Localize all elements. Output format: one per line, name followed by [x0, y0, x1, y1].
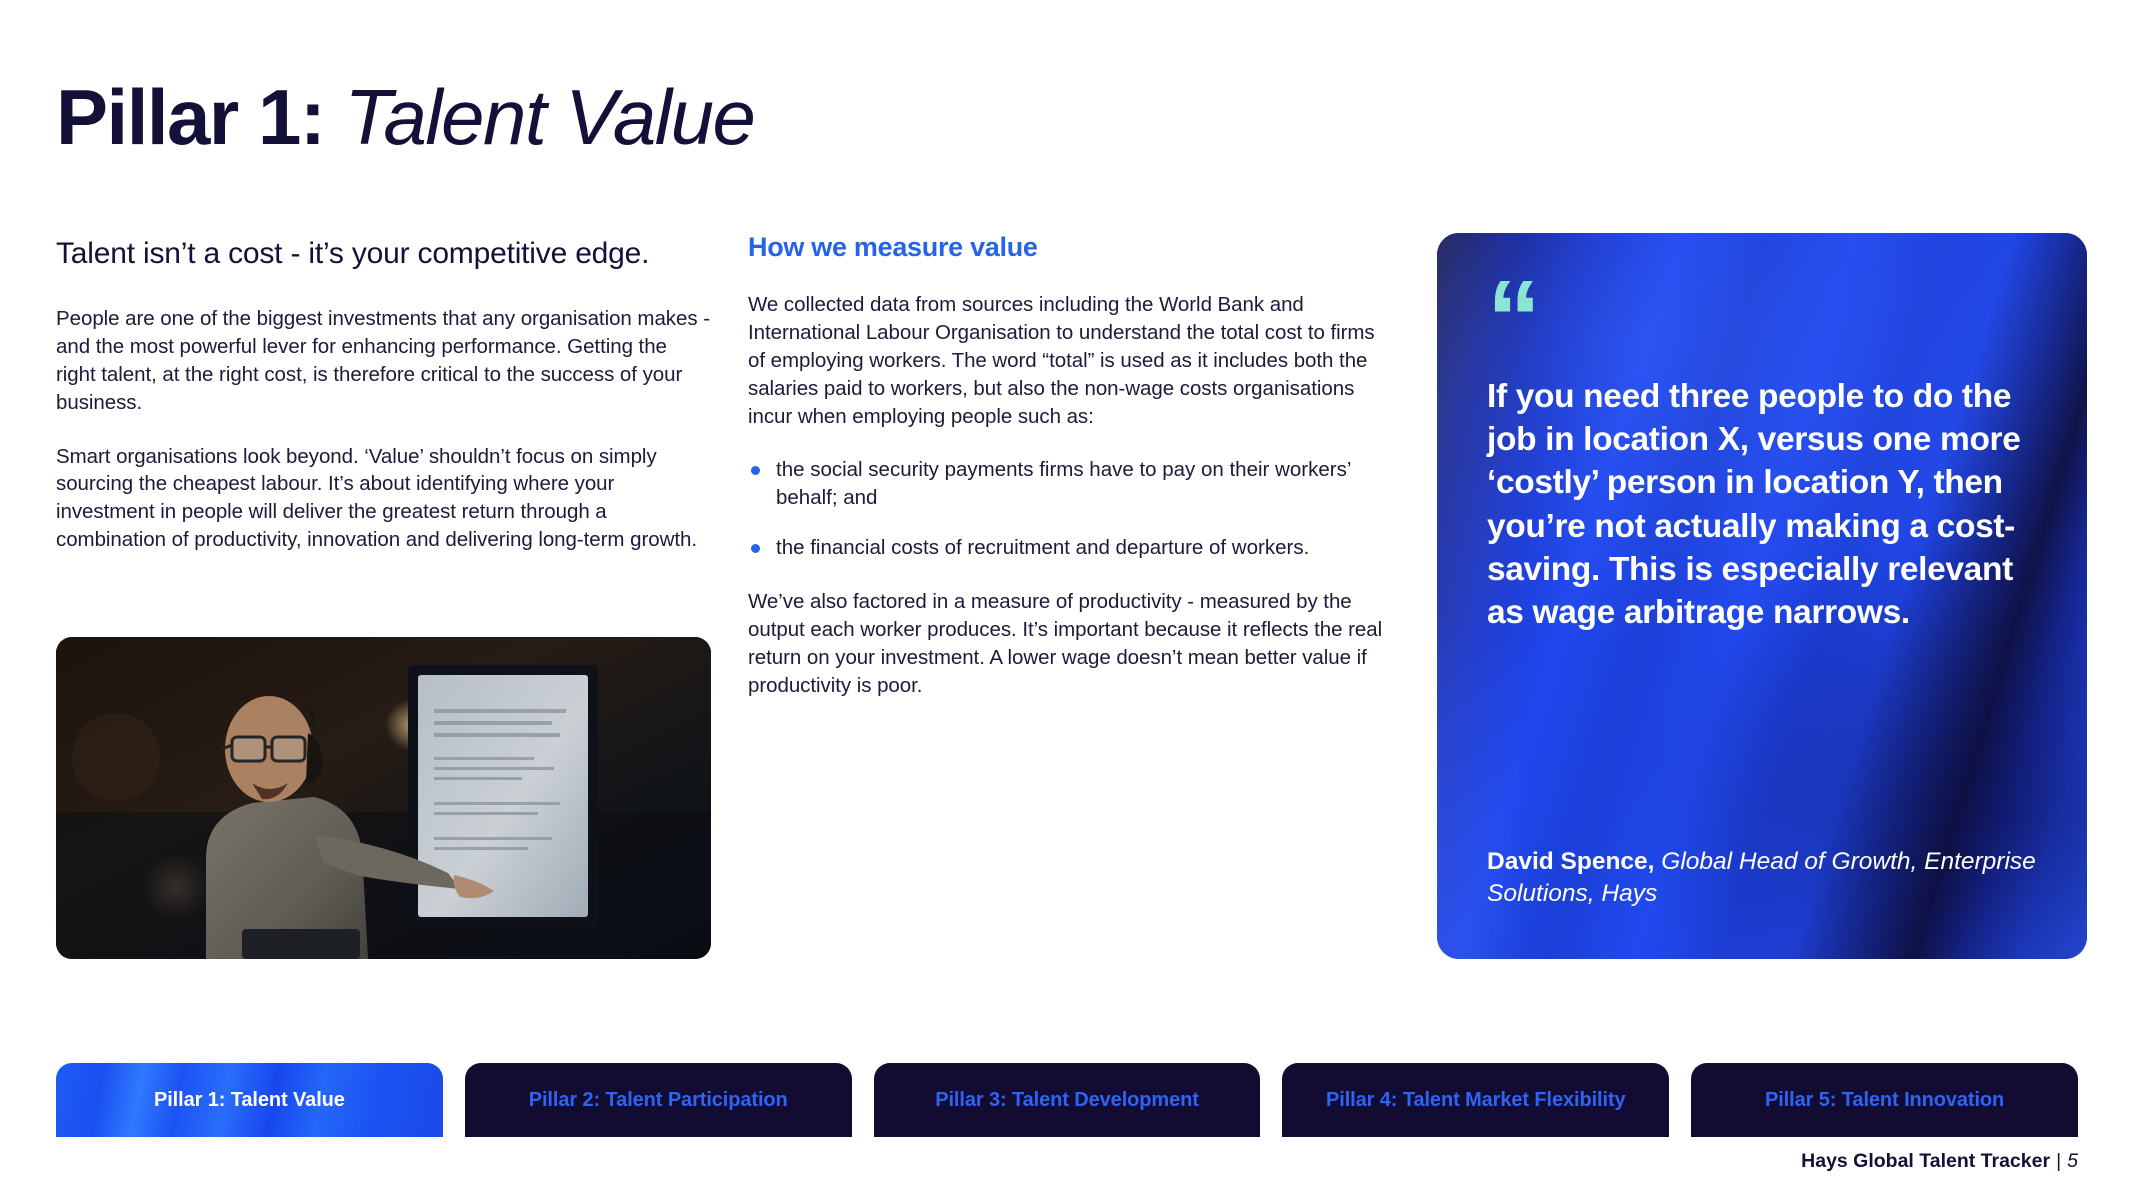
- list-item: the financial costs of recruitment and d…: [748, 534, 1396, 562]
- quote-card-content: “ If you need three people to do the job…: [1437, 233, 2087, 959]
- bullet-dot-icon: [751, 544, 760, 553]
- tab-label: Pillar 3: Talent Development: [935, 1089, 1199, 1112]
- quote-attribution: David Spence, Global Head of Growth, Ent…: [1487, 846, 2037, 910]
- tab-pillar-4[interactable]: Pillar 4: Talent Market Flexibility: [1282, 1063, 1669, 1137]
- bullet-dot-icon: [751, 466, 760, 475]
- left-column-paragraph-1: People are one of the biggest investment…: [56, 305, 711, 417]
- tab-pillar-1[interactable]: Pillar 1: Talent Value: [56, 1063, 443, 1137]
- tab-pillar-3[interactable]: Pillar 3: Talent Development: [874, 1063, 1261, 1137]
- list-item: the social security payments firms have …: [748, 456, 1396, 512]
- list-item-label: the financial costs of recruitment and d…: [776, 536, 1309, 559]
- tab-pillar-5[interactable]: Pillar 5: Talent Innovation: [1691, 1063, 2078, 1137]
- slide-page: Pillar 1: Talent Value Talent isn’t a co…: [0, 0, 2134, 1200]
- middle-column-heading: How we measure value: [748, 232, 1396, 263]
- page-number: 5: [2067, 1150, 2078, 1172]
- middle-column: How we measure value We collected data f…: [748, 232, 1396, 700]
- middle-column-intro: We collected data from sources including…: [748, 291, 1396, 430]
- quotation-mark-icon: “: [1487, 279, 2037, 357]
- quote-author-name: David Spence,: [1487, 848, 1654, 875]
- left-column-lede: Talent isn’t a cost - it’s your competit…: [56, 235, 711, 273]
- page-title-bold: Pillar 1:: [56, 73, 324, 161]
- list-item-label: the social security payments firms have …: [776, 458, 1351, 509]
- tab-label: Pillar 2: Talent Participation: [529, 1089, 788, 1112]
- left-column-paragraph-2: Smart organisations look beyond. ‘Value’…: [56, 443, 711, 555]
- tab-label: Pillar 4: Talent Market Flexibility: [1326, 1089, 1626, 1112]
- left-column: Talent isn’t a cost - it’s your competit…: [56, 235, 711, 554]
- tab-pillar-2[interactable]: Pillar 2: Talent Participation: [465, 1063, 852, 1137]
- tab-label: Pillar 5: Talent Innovation: [1765, 1089, 2004, 1112]
- footer-brand: Hays Global Talent Tracker: [1801, 1150, 2050, 1172]
- middle-column-outro: We’ve also factored in a measure of prod…: [748, 588, 1396, 700]
- tab-label: Pillar 1: Talent Value: [154, 1089, 345, 1112]
- footer-separator: |: [2056, 1150, 2061, 1172]
- photo-illustration: [56, 637, 711, 959]
- quote-text: If you need three people to do the job i…: [1487, 375, 2037, 634]
- measure-bullet-list: the social security payments firms have …: [748, 456, 1396, 562]
- page-title-italic: Talent Value: [344, 73, 754, 161]
- footer: Hays Global Talent Tracker|5: [1801, 1150, 2078, 1173]
- page-title: Pillar 1: Talent Value: [56, 78, 754, 156]
- presentation-photo: [56, 637, 711, 959]
- quote-card: “ If you need three people to do the job…: [1437, 233, 2087, 959]
- pillar-tab-bar: Pillar 1: Talent Value Pillar 2: Talent …: [56, 1063, 2078, 1137]
